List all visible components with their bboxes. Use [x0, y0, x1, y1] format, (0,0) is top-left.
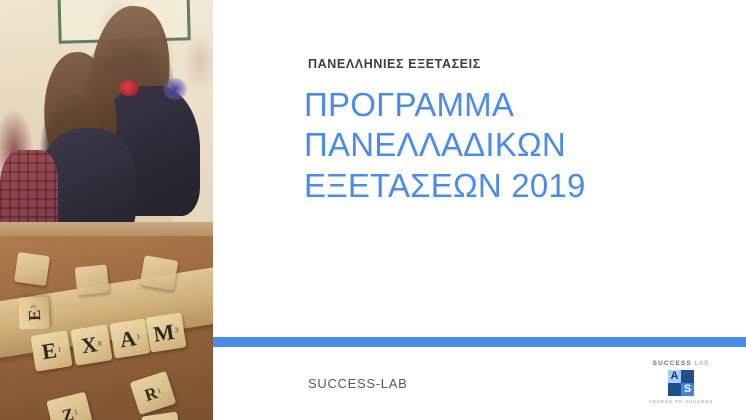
- tile-letter: Z: [60, 405, 75, 420]
- footer-organization: SUCCESS-LAB: [308, 376, 407, 391]
- tile-letter: E: [40, 339, 58, 363]
- logo-word-success: SUCCESS: [653, 360, 692, 367]
- accent-divider-bar: [213, 337, 746, 347]
- logo-letter-s: S: [684, 384, 691, 395]
- scrabble-tile-r: R1: [130, 371, 177, 415]
- tile-letter: M: [152, 320, 176, 345]
- tile-value: 3: [174, 327, 179, 334]
- scrabble-tile-z: Z1: [46, 392, 94, 420]
- title-year: 2019: [511, 167, 585, 204]
- red-flower-clip-icon: [119, 80, 139, 96]
- tile-value: 1: [157, 387, 162, 395]
- logo-mark-icon: A S: [668, 370, 694, 396]
- logo-wordmark: SUCCESS LAB: [653, 360, 710, 367]
- logo-tagline: ACCESS TO SUCCESS: [649, 399, 713, 404]
- presentation-slide: E3 E1 X8 A1 M3 R1 Z1: [0, 0, 746, 420]
- scrabble-tile-loose: [141, 412, 180, 420]
- background-highlight: [162, 78, 188, 100]
- logo-word-lab: LAB: [695, 360, 710, 367]
- classroom-photo-region: [0, 0, 213, 232]
- slide-title: ΠΡΟΓΡΑΜΜΑ ΠΑΝΕΛΛΑΔΙΚΩΝ ΕΞΕΤΑΣΕΩΝ 2019: [304, 85, 724, 206]
- scrabble-tile-loose-e: E3: [18, 296, 49, 329]
- tile-value: 1: [57, 346, 62, 353]
- logo-quadrant-top-right: [681, 370, 694, 383]
- scrabble-tile-loose: [140, 255, 179, 290]
- scrabble-tile-x: X8: [70, 324, 112, 365]
- slide-eyebrow: ΠΑΝΕΛΛΗΝΙΕΣ ΕΞΕΤΑΣΕΙΣ: [308, 57, 481, 71]
- title-line-1: ΠΡΟΓΡΑΜΜΑ: [304, 85, 724, 125]
- scrabble-tile-a: A1: [109, 318, 150, 358]
- title-line-2: ΠΑΝΕΛΛΑΔΙΚΩΝ: [304, 125, 724, 165]
- tile-letter: A: [118, 327, 137, 351]
- scrabble-tile-m: M3: [145, 312, 186, 352]
- title-line-3-wrap: ΕΞΕΤΑΣΕΩΝ 2019: [304, 166, 724, 206]
- tile-value: 3: [30, 305, 37, 309]
- tile-value: 8: [98, 340, 103, 347]
- success-lab-logo: SUCCESS LAB A S ACCESS TO SUCCESS: [632, 360, 730, 412]
- logo-quadrant-bottom-left: [668, 383, 681, 396]
- tile-letter: E: [25, 309, 42, 321]
- scrabble-tile-loose: [14, 252, 50, 286]
- scrabble-photo-region: E3 E1 X8 A1 M3 R1 Z1: [0, 236, 213, 420]
- title-line-3: ΕΞΕΤΑΣΕΩΝ: [304, 167, 502, 204]
- scrabble-tile-e: E1: [30, 330, 72, 371]
- tile-letter: X: [80, 333, 99, 357]
- logo-quadrant-s: S: [681, 383, 694, 396]
- tile-value: 1: [136, 333, 141, 340]
- logo-quadrant-a: A: [668, 370, 681, 383]
- scrabble-tile-loose: [75, 264, 110, 295]
- tile-value: 1: [73, 409, 78, 417]
- slide-content: ΠΑΝΕΛΛΗΝΙΕΣ ΕΞΕΤΑΣΕΙΣ ΠΡΟΓΡΑΜΜΑ ΠΑΝΕΛΛΑΔ…: [213, 0, 746, 420]
- slide-photo: E3 E1 X8 A1 M3 R1 Z1: [0, 0, 213, 420]
- logo-letter-a: A: [671, 371, 679, 382]
